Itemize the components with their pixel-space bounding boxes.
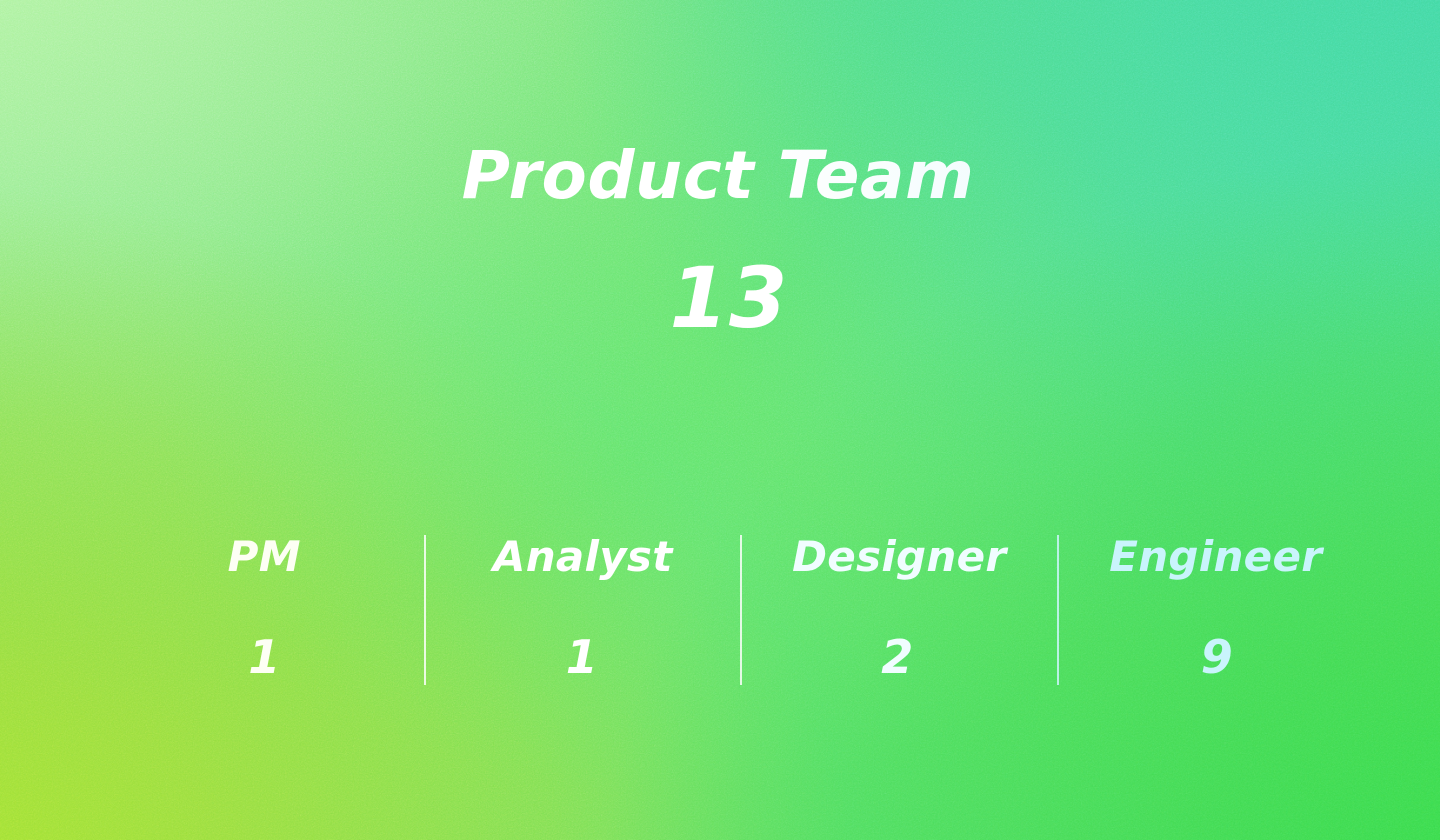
stat-label: Designer	[792, 536, 1006, 578]
card-content: Product Team 13 PM 1 Analyst 1 Designer …	[0, 0, 1440, 840]
stat-item-designer: Designer 2	[741, 528, 1058, 688]
stat-label: Analyst	[493, 536, 673, 578]
stat-value: 1	[248, 634, 280, 680]
stat-label: Engineer	[1109, 536, 1322, 578]
stat-value: 9	[1201, 634, 1233, 680]
total-headcount-value: 13	[0, 256, 1440, 340]
stat-item-engineer: Engineer 9	[1058, 528, 1375, 688]
stat-value: 1	[566, 634, 598, 680]
stat-item-pm: PM 1	[108, 528, 425, 688]
stat-label: PM	[228, 536, 301, 578]
team-summary-card: Product Team 13 PM 1 Analyst 1 Designer …	[0, 0, 1440, 840]
page-title: Product Team	[0, 143, 1440, 209]
role-breakdown-row: PM 1 Analyst 1 Designer 2 Engineer 9	[108, 528, 1374, 688]
stat-value: 2	[881, 634, 913, 680]
stat-item-analyst: Analyst 1	[425, 528, 742, 688]
